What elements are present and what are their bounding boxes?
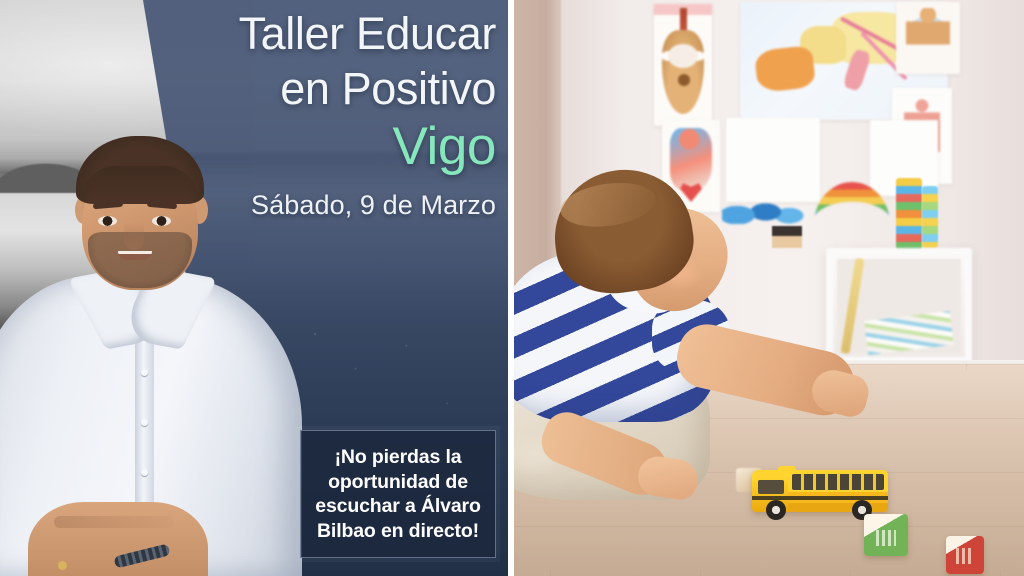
map-iberia-shape <box>754 45 816 93</box>
event-city: Vigo <box>196 116 496 178</box>
speaker-mouth <box>118 251 152 260</box>
bus-windows <box>792 474 884 490</box>
shirt-button <box>141 369 148 376</box>
event-date: Sábado, 9 de Marzo <box>196 188 496 222</box>
guitar-soundhole-shape <box>678 74 690 86</box>
headline-block: Taller Educar en Positivo Vigo Sábado, 9… <box>196 6 496 222</box>
anatomy-poster <box>896 2 960 74</box>
anatomy-figure-shape <box>906 8 950 66</box>
block-tower-toy <box>896 178 922 250</box>
headline-line-1: Taller Educar <box>196 6 496 61</box>
left-panel: Taller Educar en Positivo Vigo Sábado, 9… <box>0 0 508 576</box>
guitar-body-shape <box>662 30 704 114</box>
call-to-action-box[interactable]: ¡No pierdas la oportunidad de escuchar a… <box>300 430 496 558</box>
right-panel <box>514 0 1024 576</box>
green-letter-block <box>864 514 908 556</box>
speaker-ring <box>58 561 67 570</box>
bus-wheel-front <box>766 500 786 520</box>
bus-roof-light <box>778 466 796 472</box>
guitar-waist-shape <box>668 44 698 68</box>
red-letter-block <box>946 536 984 574</box>
guitar-poster <box>654 4 712 126</box>
speaker-eye-left <box>98 216 117 226</box>
shirt-button <box>141 419 148 426</box>
school-bus-toy <box>752 462 888 520</box>
bus-windshield <box>758 480 784 494</box>
speaker-nose <box>124 222 144 250</box>
speaker-eye-right <box>152 216 171 226</box>
block-tower-toy-secondary <box>922 186 938 248</box>
headline-line-2: en Positivo <box>196 61 496 116</box>
event-poster: Taller Educar en Positivo Vigo Sábado, 9… <box>0 0 1024 576</box>
call-to-action-text: ¡No pierdas la oportunidad de escuchar a… <box>301 445 495 543</box>
shirt-button <box>141 469 148 476</box>
